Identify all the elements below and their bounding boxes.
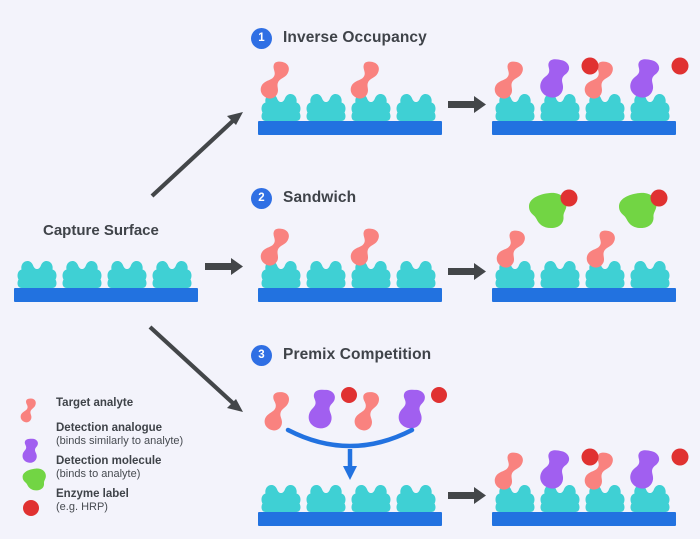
legend-item-detection-molecule: Detection molecule (binds to analyte) [22, 455, 262, 486]
panel-3-state-a [258, 485, 442, 526]
legend-sublabel: (binds similarly to analyte) [56, 435, 262, 448]
enzyme-label [672, 58, 689, 75]
substrate-bar [258, 121, 442, 135]
legend-item-detection-analogue: Detection analogue (binds similarly to a… [22, 422, 262, 453]
substrate-bar [492, 512, 676, 526]
capture-antibody [631, 94, 670, 121]
target-analyte [263, 390, 290, 433]
target-analyte [492, 58, 525, 102]
capture-antibody [307, 94, 346, 121]
capture-antibody [397, 485, 436, 512]
substrate-bar [14, 288, 198, 302]
detection-analogue [627, 56, 661, 100]
capture-antibody [108, 261, 147, 288]
target-analyte [353, 390, 380, 433]
branch-arrow-to-panel-2 [205, 258, 243, 275]
detection-analogue [627, 447, 661, 491]
legend-label: Detection molecule [56, 455, 262, 468]
detection-analogue [397, 388, 426, 430]
enzyme-label [582, 58, 599, 75]
capture-antibody [631, 261, 670, 288]
panel-3-title: Premix Competition [283, 346, 431, 364]
capture-antibody [307, 261, 346, 288]
legend-label: Enzyme label [56, 488, 262, 501]
enzyme-label [431, 387, 447, 403]
target-analyte [348, 58, 381, 102]
panel-2-title: Sandwich [283, 189, 356, 207]
target-analyte [258, 225, 291, 269]
panel-3-step-arrow [448, 487, 486, 504]
capture-antibody [541, 94, 580, 121]
capture-antibody [631, 485, 670, 512]
capture-antibody [541, 261, 580, 288]
capture-antibody [397, 94, 436, 121]
legend: Target analyte Detection analogue (binds… [22, 392, 262, 521]
legend-label: Target analyte [56, 392, 262, 410]
enzyme-label [582, 449, 599, 466]
panel-1-title: Inverse Occupancy [283, 29, 427, 47]
target-analyte [348, 225, 381, 269]
enzyme-label [341, 387, 357, 403]
panel-1-step-arrow [448, 96, 486, 113]
detection-analogue [537, 56, 571, 100]
premix-curved-arrow [288, 430, 412, 480]
panel-2-step-arrow [448, 263, 486, 280]
capture-surface-group [14, 261, 198, 302]
detection-analogue [307, 388, 336, 430]
substrate-bar [258, 288, 442, 302]
enzyme-label [672, 449, 689, 466]
panel-1-state-b [492, 56, 689, 135]
detection-analogue [537, 447, 571, 491]
capture-antibody [397, 261, 436, 288]
target-analyte [492, 449, 525, 493]
diagram-canvas: Capture Surface 1 Inverse Occupancy 2 Sa… [0, 0, 700, 539]
legend-sublabel: (binds to analyte) [56, 468, 262, 481]
legend-sublabel: (e.g. HRP) [56, 501, 262, 514]
target-analyte [258, 58, 291, 102]
arrow-right-icon [205, 258, 243, 275]
capture-antibody [541, 485, 580, 512]
panel-2-badge: 2 [251, 188, 272, 209]
capture-antibody [153, 261, 192, 288]
panel-2-state-b [492, 190, 676, 303]
legend-label: Detection analogue [56, 422, 262, 435]
branch-arrow-to-panel-1 [152, 112, 243, 196]
panel-3-premix-mixture [263, 387, 447, 432]
capture-surface-label: Capture Surface [43, 222, 159, 239]
panel-3-badge: 3 [251, 345, 272, 366]
substrate-bar [492, 288, 676, 302]
enzyme-label [561, 190, 578, 207]
substrate-bar [492, 121, 676, 135]
panel-1-state-a [258, 58, 442, 135]
panel-1-badge: 1 [251, 28, 272, 49]
legend-item-target-analyte: Target analyte [22, 392, 262, 420]
panel-3-state-b [492, 447, 689, 526]
capture-antibody [63, 261, 102, 288]
capture-antibody [262, 485, 301, 512]
panel-2-state-a [258, 225, 442, 302]
capture-antibody [307, 485, 346, 512]
enzyme-label [651, 190, 668, 207]
capture-antibody [18, 261, 57, 288]
legend-item-enzyme-label: Enzyme label (e.g. HRP) [22, 488, 262, 519]
substrate-bar [258, 512, 442, 526]
capture-antibody [352, 485, 391, 512]
